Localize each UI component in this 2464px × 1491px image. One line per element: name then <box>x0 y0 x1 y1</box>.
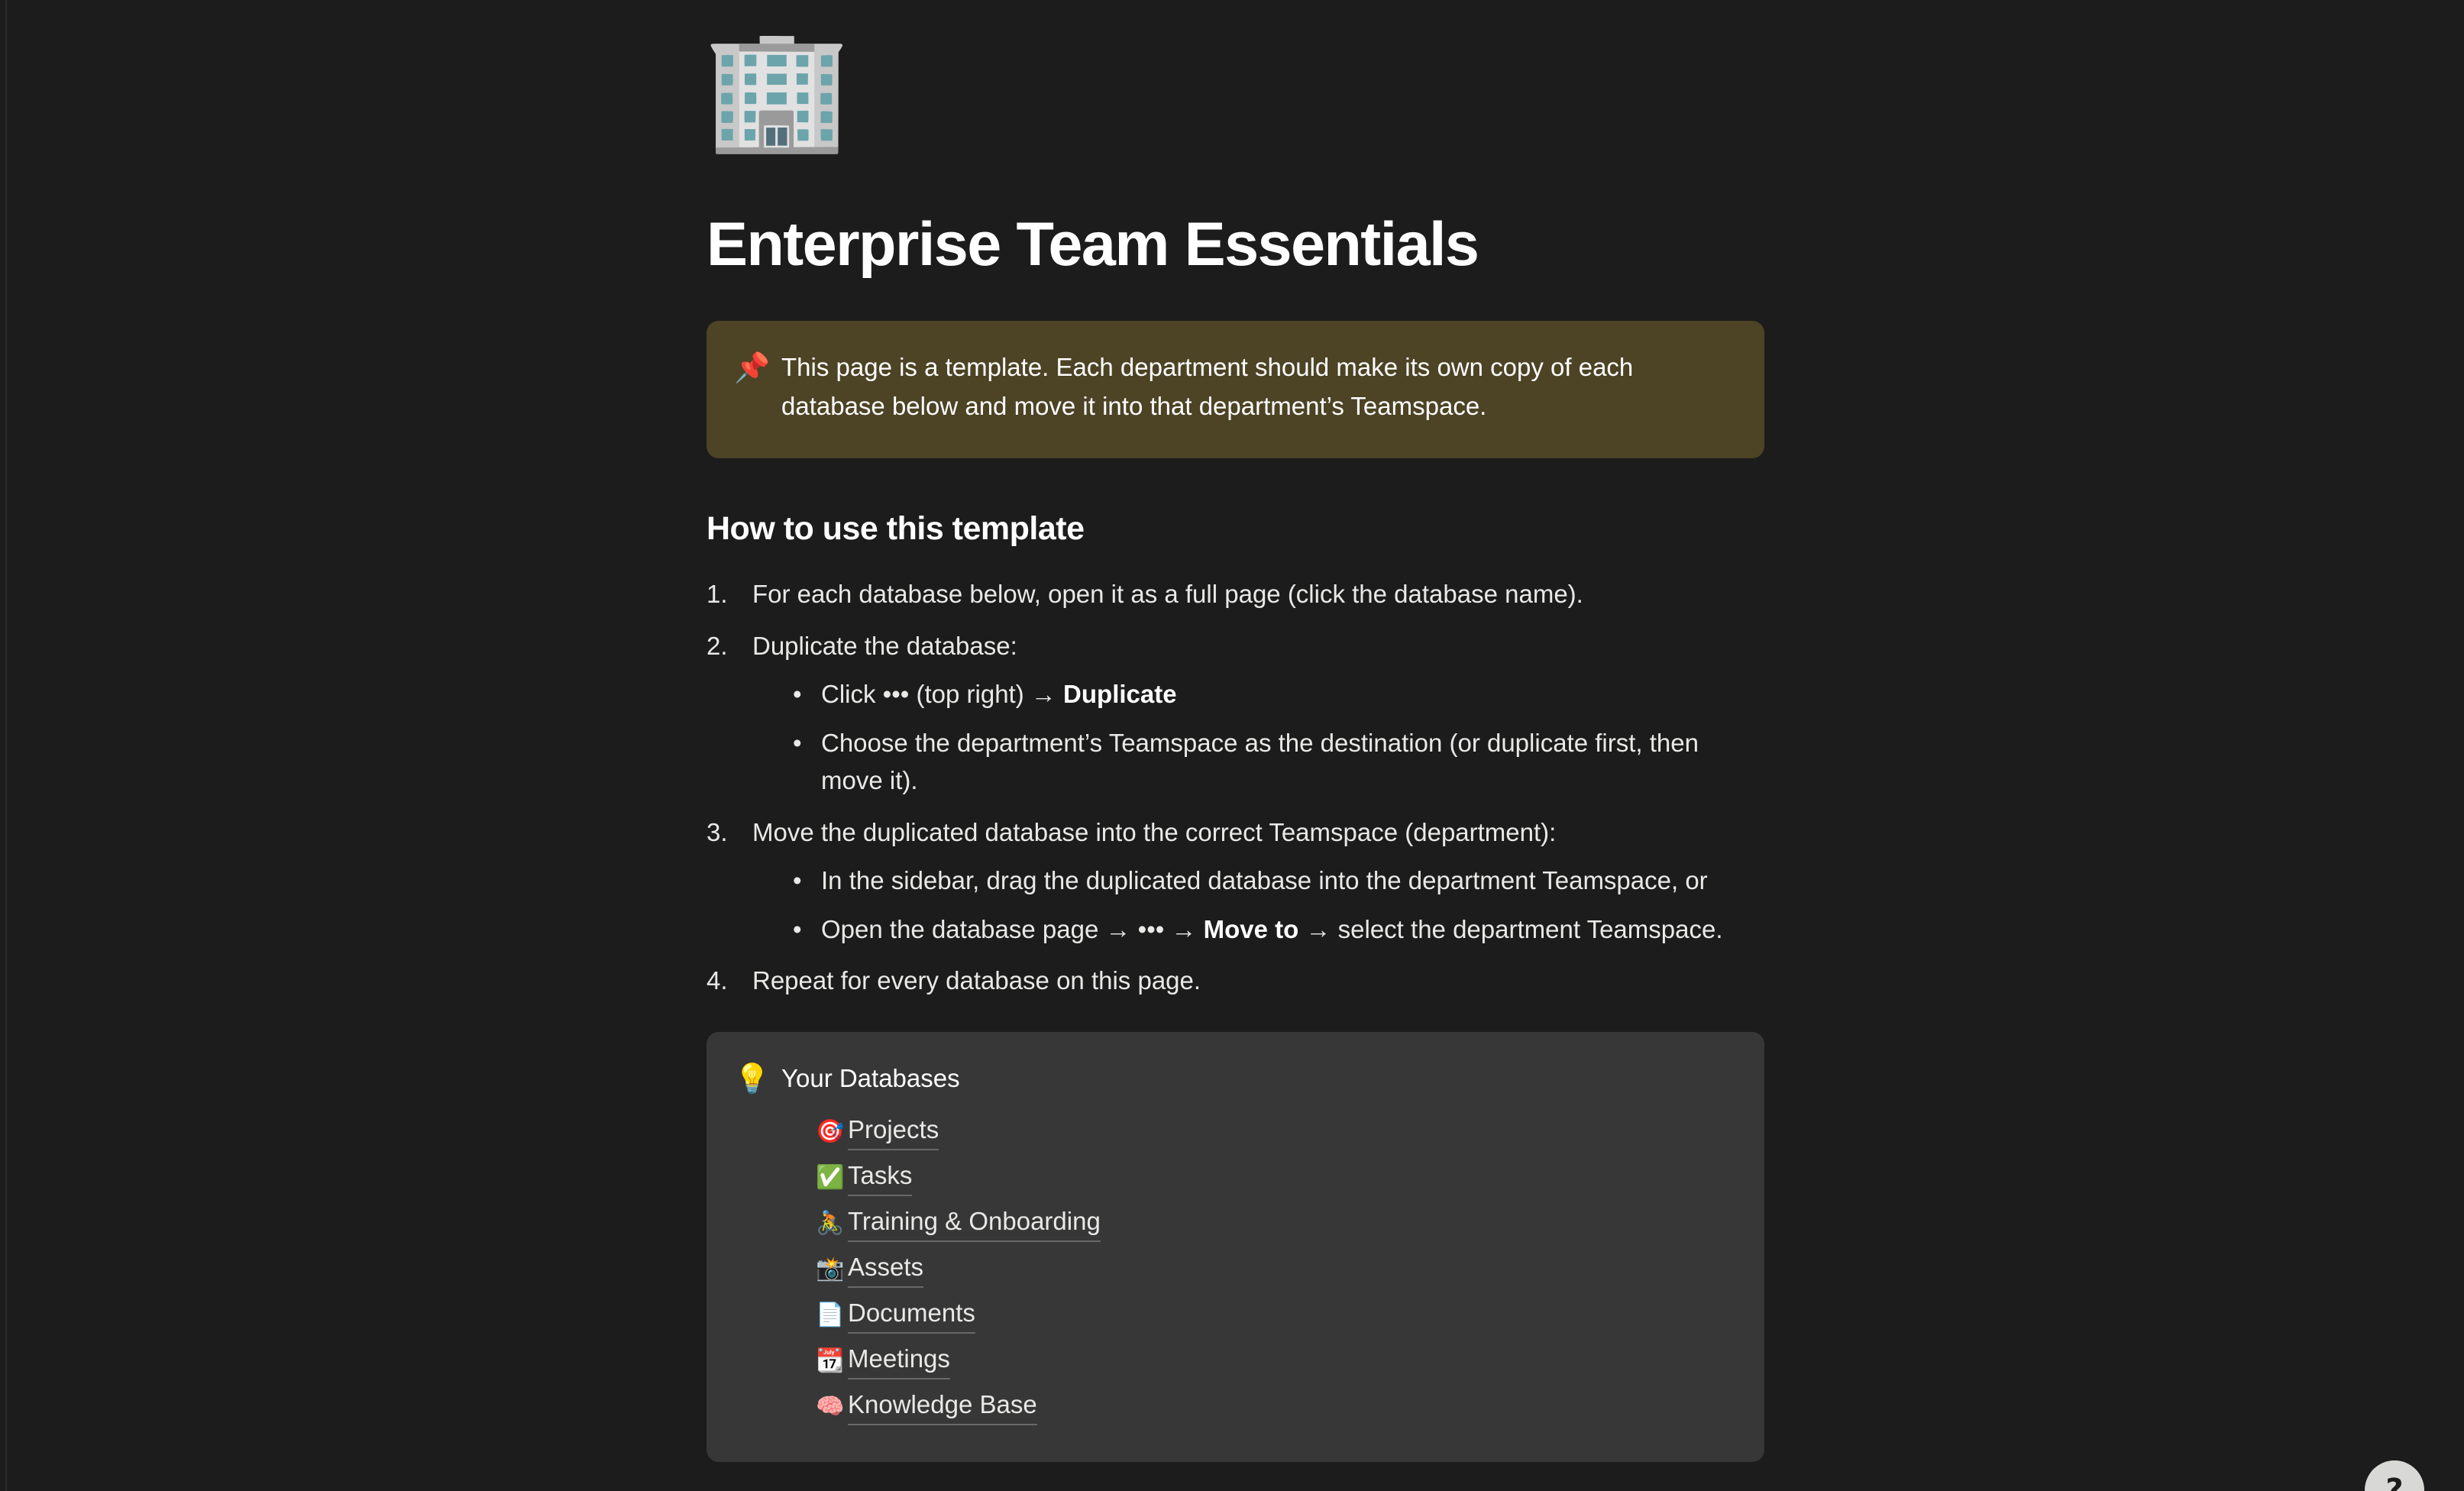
substep-suffix: → select the department Teamspace. <box>1298 915 1722 943</box>
camera-with-flash-emoji: 📸 <box>816 1258 848 1281</box>
database-link-projects[interactable]: Projects <box>848 1114 939 1150</box>
your-databases-callout[interactable]: 💡 Your Databases 🎯 Projects ✅ Tasks 🚴 Tr… <box>707 1032 1764 1463</box>
help-button[interactable]: ? <box>2365 1460 2424 1491</box>
step-marker: 1. <box>707 575 743 613</box>
database-link-assets[interactable]: Assets <box>848 1251 923 1288</box>
step-text: Move the duplicated database into the co… <box>752 818 1556 846</box>
template-notice-text: This page is a template. Each department… <box>781 347 1660 425</box>
person-biking-emoji: 🚴 <box>816 1212 848 1235</box>
how-to-steps-list: 1. For each database below, open it as a… <box>707 575 1764 1000</box>
substep-item: • Click ••• (top right) → Duplicate <box>787 675 1764 713</box>
list-item: 🧠 Knowledge Base <box>816 1389 1737 1425</box>
step-3-substeps: • In the sidebar, drag the duplicated da… <box>787 862 1764 948</box>
bullet-icon: • <box>793 724 802 762</box>
substep-prefix: Open the database page → ••• → <box>821 915 1204 943</box>
list-item: 📄 Documents <box>816 1297 1737 1334</box>
step-item-2: 2. Duplicate the database: • Click ••• (… <box>707 627 1764 800</box>
office-building-emoji[interactable]: 🏢 <box>703 29 1764 167</box>
bullet-icon: • <box>793 675 802 713</box>
bullet-icon: • <box>793 910 802 949</box>
database-link-documents[interactable]: Documents <box>848 1297 975 1334</box>
database-links-list: 🎯 Projects ✅ Tasks 🚴 Training & Onboardi… <box>816 1114 1737 1425</box>
template-notice-callout[interactable]: 📌 This page is a template. Each departme… <box>707 321 1764 458</box>
substep-prefix: Choose the department’s Teamspace as the… <box>821 729 1699 795</box>
pushpin-emoji: 📌 <box>734 347 781 389</box>
list-item: ✅ Tasks <box>816 1159 1737 1196</box>
step-2-substeps: • Click ••• (top right) → Duplicate • Ch… <box>787 675 1764 800</box>
page-facing-up-emoji: 📄 <box>816 1304 848 1327</box>
light-bulb-emoji: 💡 <box>734 1058 781 1100</box>
step-text: Duplicate the database: <box>752 632 1017 660</box>
databases-callout-body: Your Databases 🎯 Projects ✅ Tasks 🚴 Trai… <box>781 1058 1737 1426</box>
list-item: 📸 Assets <box>816 1251 1737 1288</box>
substep-prefix: Click ••• (top right) → <box>821 680 1063 708</box>
page-content-column: 🏢 Enterprise Team Essentials 📌 This page… <box>707 0 1764 1462</box>
step-item-3: 3. Move the duplicated database into the… <box>707 813 1764 949</box>
step-text: For each database below, open it as a fu… <box>752 580 1583 608</box>
page-scroll-container[interactable]: 🏢 Enterprise Team Essentials 📌 This page… <box>0 0 2464 1491</box>
brain-emoji: 🧠 <box>816 1396 848 1418</box>
tear-off-calendar-emoji: 📆 <box>816 1350 848 1373</box>
substep-bold: Move to <box>1204 915 1299 943</box>
direct-hit-emoji: 🎯 <box>816 1121 848 1143</box>
check-mark-button-emoji: ✅ <box>816 1166 848 1189</box>
how-to-heading: How to use this template <box>707 510 1764 548</box>
substep-prefix: In the sidebar, drag the duplicated data… <box>821 866 1708 894</box>
database-link-tasks[interactable]: Tasks <box>848 1159 912 1196</box>
your-databases-title: Your Databases <box>781 1058 1737 1098</box>
substep-item: • In the sidebar, drag the duplicated da… <box>787 862 1764 900</box>
substep-bold: Duplicate <box>1063 680 1177 708</box>
database-link-training-and-onboarding[interactable]: Training & Onboarding <box>848 1205 1101 1242</box>
list-item: 🚴 Training & Onboarding <box>816 1205 1737 1242</box>
substep-item: • Choose the department’s Teamspace as t… <box>787 724 1764 800</box>
list-item: 📆 Meetings <box>816 1343 1737 1379</box>
substep-item: • Open the database page → ••• → Move to… <box>787 910 1764 949</box>
database-link-meetings[interactable]: Meetings <box>848 1343 950 1379</box>
step-item-4: 4. Repeat for every database on this pag… <box>707 962 1764 1000</box>
step-item-1: 1. For each database below, open it as a… <box>707 575 1764 613</box>
database-link-knowledge-base[interactable]: Knowledge Base <box>848 1389 1037 1425</box>
list-item: 🎯 Projects <box>816 1114 1737 1150</box>
step-marker: 4. <box>707 962 743 1000</box>
page-title[interactable]: Enterprise Team Essentials <box>707 211 1764 279</box>
step-marker: 2. <box>707 627 743 665</box>
step-text: Repeat for every database on this page. <box>752 966 1201 995</box>
step-marker: 3. <box>707 813 743 852</box>
bullet-icon: • <box>793 862 802 900</box>
